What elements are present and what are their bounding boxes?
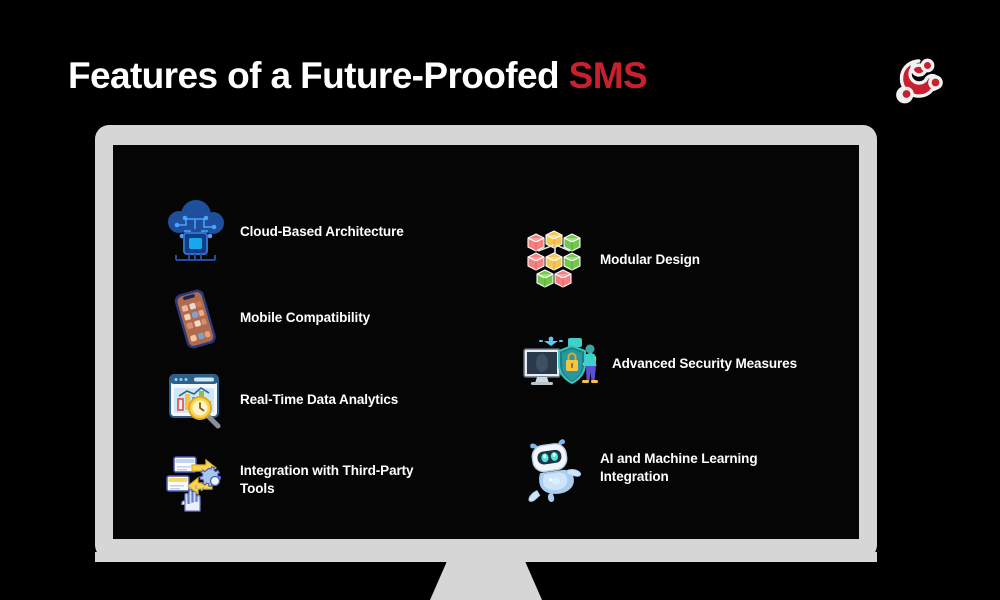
- feature-item-mobile-compatibility[interactable]: Mobile Compatibility: [158, 281, 498, 355]
- right-feature-column: Modular Design: [518, 223, 858, 535]
- analytics-dashboard-icon: [158, 363, 232, 437]
- feature-item-real-time-data-analytics[interactable]: Real-Time Data Analytics: [158, 363, 498, 437]
- smartphone-icon: [158, 281, 232, 355]
- page-header: Features of a Future-Proofed SMS: [0, 0, 1000, 120]
- presentation-screen: Cloud-Based Architecture: [113, 145, 859, 539]
- feature-label: Mobile Compatibility: [232, 309, 370, 327]
- page-title: Features of a Future-Proofed SMS: [68, 55, 647, 97]
- feature-label: Cloud-Based Architecture: [232, 223, 404, 241]
- feature-label: Real-Time Data Analytics: [232, 391, 398, 409]
- ai-robot-icon: [518, 431, 592, 505]
- feature-item-cloud-based-architecture[interactable]: Cloud-Based Architecture: [158, 195, 498, 269]
- left-feature-column: Cloud-Based Architecture: [158, 195, 498, 527]
- shield-lock-icon: [518, 327, 604, 401]
- feature-label: Modular Design: [592, 251, 700, 269]
- modular-cubes-icon: [518, 223, 592, 297]
- desktop-monitor: Cloud-Based Architecture: [95, 125, 877, 559]
- feature-item-advanced-security-measures[interactable]: Advanced Security Measures: [518, 327, 858, 401]
- feature-item-modular-design[interactable]: Modular Design: [518, 223, 858, 297]
- cloud-chip-icon: [158, 195, 232, 269]
- page-title-main: Features of a Future-Proofed: [68, 55, 569, 96]
- feature-item-ai-machine-learning-integration[interactable]: AI and Machine Learning Integration: [518, 431, 858, 505]
- feature-item-integration-third-party-tools[interactable]: Integration with Third-Party Tools: [158, 443, 498, 517]
- feature-label: Integration with Third-Party Tools: [232, 462, 437, 498]
- molecule-c-logo: [896, 58, 942, 102]
- feature-label: Advanced Security Measures: [604, 355, 797, 373]
- monitor-stand: [430, 559, 542, 600]
- integration-gear-arrows-icon: [158, 443, 232, 517]
- page-title-accent: SMS: [569, 55, 647, 96]
- feature-label: AI and Machine Learning Integration: [592, 450, 787, 486]
